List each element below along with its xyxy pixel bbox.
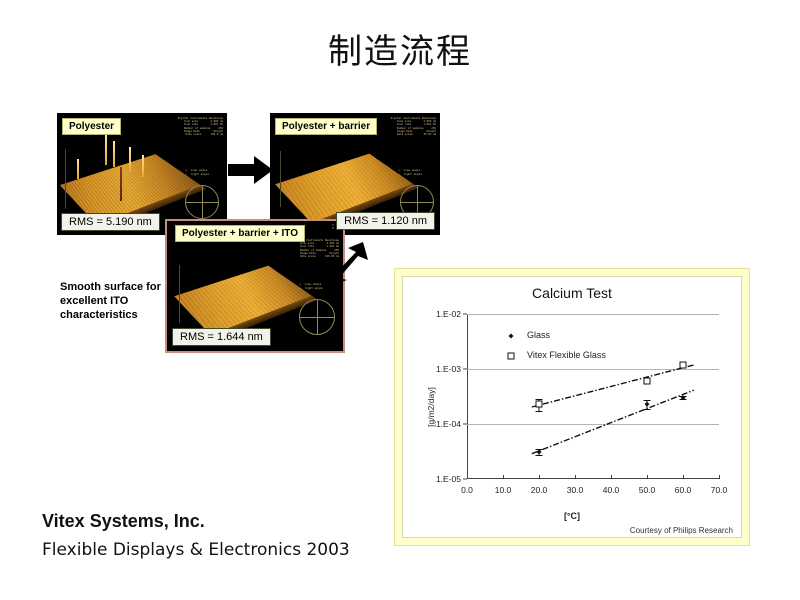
- arrow-down-left-icon: [327, 240, 371, 293]
- chart-x-tick-mark: [467, 475, 468, 479]
- chart-x-axis-label: [°C]: [403, 511, 741, 521]
- chart-data-point[interactable]: [536, 401, 543, 408]
- chart-legend-marker: [508, 353, 515, 360]
- afm-panel-polyester-barrier: Digital Instruments NanoScope Scan size …: [270, 113, 440, 235]
- chart-x-tick-label: 30.0: [567, 485, 584, 495]
- afm-compass-icon: [299, 299, 335, 335]
- chart-legend-label: Glass: [527, 330, 550, 340]
- afm-spike: [129, 147, 131, 173]
- footer-event: Flexible Displays & Electronics 2003: [42, 540, 350, 560]
- afm-label-polyester: Polyester: [62, 118, 121, 135]
- chart-x-tick-mark: [683, 475, 684, 479]
- afm-spike: [120, 167, 122, 201]
- afm-panel-polyester-barrier-ito: Digital Instruments NanoScope Scan size …: [165, 219, 345, 353]
- afm-axis-line: [280, 151, 281, 207]
- chart-x-tick-label: 20.0: [531, 485, 548, 495]
- chart-x-tick-mark: [575, 475, 576, 479]
- chart-y-tick-label: 1.E-02: [436, 309, 461, 319]
- chart-error-cap: [536, 399, 543, 400]
- chart-y-tick-label: 1.E-05: [436, 474, 461, 484]
- footer-company: Vitex Systems, Inc.: [42, 511, 205, 532]
- chart-y-axis-label: [g/m2/day]: [426, 387, 436, 427]
- smooth-surface-note: Smooth surface for excellent ITO charact…: [60, 280, 180, 322]
- chart-y-tick-mark: [463, 369, 467, 370]
- afm-rms-polyester-barrier-ito: RMS = 1.644 nm: [172, 328, 271, 346]
- page-title: 制造流程: [0, 24, 800, 73]
- chart-x-tick-mark: [503, 475, 504, 479]
- afm-angle-legend: □ view angle ◁ light angle: [299, 283, 323, 290]
- chart-x-tick-mark: [719, 475, 720, 479]
- chart-x-axis: [467, 478, 719, 479]
- chart-x-tick-label: 60.0: [675, 485, 692, 495]
- chart-error-cap: [644, 400, 651, 401]
- chart-gridline: [467, 369, 719, 370]
- afm-rms-polyester: RMS = 5.190 nm: [61, 213, 160, 231]
- chart-error-cap: [644, 409, 651, 410]
- chart-y-tick-label: 1.E-03: [436, 364, 461, 374]
- chart-credit: Courtesy of Philips Research: [630, 526, 733, 535]
- afm-metadata: Digital Instruments NanoScope Scan size …: [391, 117, 436, 136]
- chart-title: Calcium Test: [403, 285, 741, 301]
- chart-legend-label: Vitex Flexible Glass: [527, 350, 606, 360]
- afm-compass-icon: [185, 185, 219, 219]
- chart-y-tick-mark: [463, 424, 467, 425]
- afm-angle-legend: □ view angle ◁ light angle: [185, 169, 209, 176]
- chart-error-cap: [536, 411, 543, 412]
- chart-x-tick-label: 40.0: [603, 485, 620, 495]
- afm-spike: [142, 155, 144, 177]
- afm-axis-line: [65, 149, 66, 209]
- afm-rms-polyester-barrier: RMS = 1.120 nm: [336, 212, 435, 230]
- chart-x-tick-label: 10.0: [495, 485, 512, 495]
- afm-angle-legend: □ view angle ◁ light angle: [398, 169, 422, 176]
- chart-data-point[interactable]: [645, 402, 650, 407]
- chart-y-tick-mark: [463, 314, 467, 315]
- afm-panel-polyester: Digital Instruments NanoScope Scan size …: [57, 113, 227, 235]
- chart-gridline: [467, 314, 719, 315]
- afm-spike: [77, 159, 79, 179]
- chart-x-tick-mark: [539, 475, 540, 479]
- chart-gridline: [467, 424, 719, 425]
- calcium-test-chart: Calcium Test [g/m2/day] 1.E-021.E-031.E-…: [394, 268, 750, 546]
- afm-surface-polyester-barrier-ito: [174, 266, 312, 335]
- afm-label-polyester-barrier-ito: Polyester + barrier + ITO: [175, 225, 305, 242]
- afm-spike: [113, 141, 115, 167]
- chart-error-cap: [536, 455, 543, 456]
- afm-spike: [105, 135, 107, 165]
- chart-plot-area: 1.E-021.E-031.E-041.E-050.010.020.030.04…: [467, 314, 719, 479]
- afm-label-polyester-barrier: Polyester + barrier: [275, 118, 377, 135]
- chart-x-tick-label: 50.0: [639, 485, 656, 495]
- chart-x-tick-mark: [647, 475, 648, 479]
- chart-legend-marker: [509, 334, 514, 339]
- afm-metadata: Digital Instruments NanoScope Scan size …: [178, 117, 223, 136]
- chart-data-point[interactable]: [644, 378, 651, 385]
- chart-x-tick-label: 0.0: [461, 485, 473, 495]
- chart-x-tick-label: 70.0: [711, 485, 728, 495]
- chart-x-tick-mark: [611, 475, 612, 479]
- arrow-right-icon: [228, 155, 274, 190]
- chart-plot-area-container: Calcium Test [g/m2/day] 1.E-021.E-031.E-…: [402, 276, 742, 538]
- chart-data-point[interactable]: [680, 361, 687, 368]
- chart-y-tick-label: 1.E-04: [436, 419, 461, 429]
- chart-y-axis: [467, 314, 468, 479]
- chart-data-point[interactable]: [537, 449, 542, 454]
